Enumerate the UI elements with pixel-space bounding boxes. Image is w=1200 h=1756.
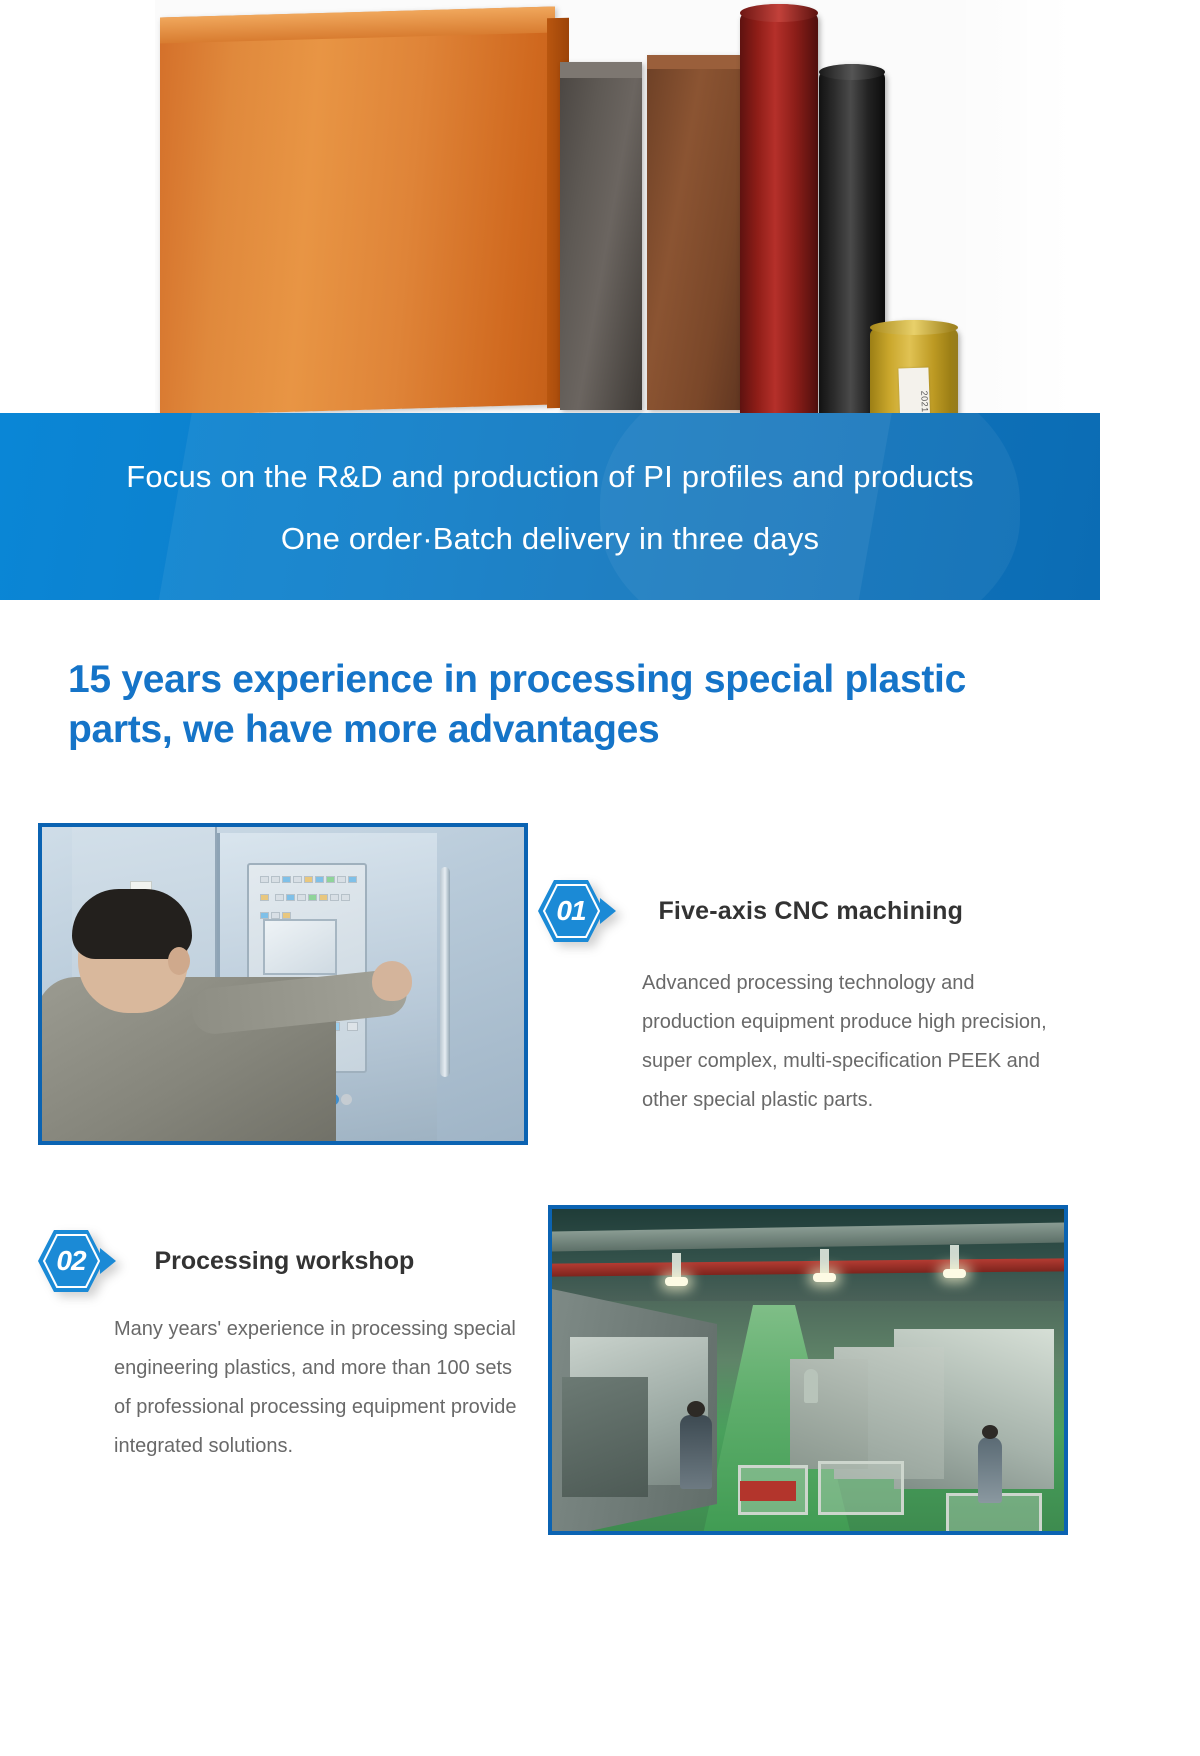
feature-01-body: Advanced processing technology and produ…	[642, 964, 1072, 1120]
cnc-door-handle	[440, 867, 450, 1077]
feature-01-number-badge: 01	[538, 880, 616, 942]
workshop-worker	[804, 1369, 818, 1403]
feature-01-text: 01 Five-axis CNC machining Advanced proc…	[538, 880, 1068, 1120]
grey-board-shape	[560, 62, 642, 410]
brown-board-shape	[647, 55, 747, 410]
feature-02-title: Processing workshop	[154, 1247, 414, 1276]
feature-02-number-badge: 02	[38, 1230, 116, 1292]
worker-hand-shape	[372, 961, 412, 1001]
cnc-scene	[42, 827, 524, 1141]
feature-01-number: 01	[538, 880, 604, 942]
feature-01-title: Five-axis CNC machining	[658, 897, 963, 926]
banner-decoration-shape-2	[600, 413, 1020, 600]
feature-01-image	[38, 823, 528, 1145]
red-rod-shape	[740, 4, 818, 434]
workshop-cart	[818, 1461, 904, 1515]
worker-ear-shape	[168, 947, 190, 975]
feature-02-number: 02	[38, 1230, 104, 1292]
workshop-red-bin	[740, 1481, 796, 1501]
cnc-keypad-top	[259, 871, 359, 913]
product-detail-page: 2021.03.25 Focus on the R&D and producti…	[0, 0, 1200, 1756]
workshop-lamp	[950, 1245, 959, 1271]
cnc-screen	[263, 919, 337, 975]
feature-02-image	[548, 1205, 1068, 1535]
workshop-lamp	[820, 1249, 829, 1275]
banner-line-2: One order·Batch delivery in three days	[0, 521, 1100, 557]
feature-02-text: 02 Processing workshop Many years' exper…	[38, 1230, 538, 1466]
orange-sheet-shape	[160, 6, 555, 415]
workshop-worker	[680, 1415, 712, 1489]
feature-02-body: Many years' experience in processing spe…	[114, 1310, 534, 1466]
banner-line-1: Focus on the R&D and production of PI pr…	[0, 459, 1100, 495]
headline-banner: Focus on the R&D and production of PI pr…	[0, 413, 1100, 600]
workshop-machine	[790, 1359, 868, 1469]
workshop-worker	[978, 1437, 1002, 1503]
section-heading: 15 years experience in processing specia…	[68, 655, 1068, 755]
workshop-ceiling	[552, 1209, 1064, 1301]
workshop-machine	[562, 1377, 648, 1497]
workshop-lamp	[672, 1253, 681, 1279]
